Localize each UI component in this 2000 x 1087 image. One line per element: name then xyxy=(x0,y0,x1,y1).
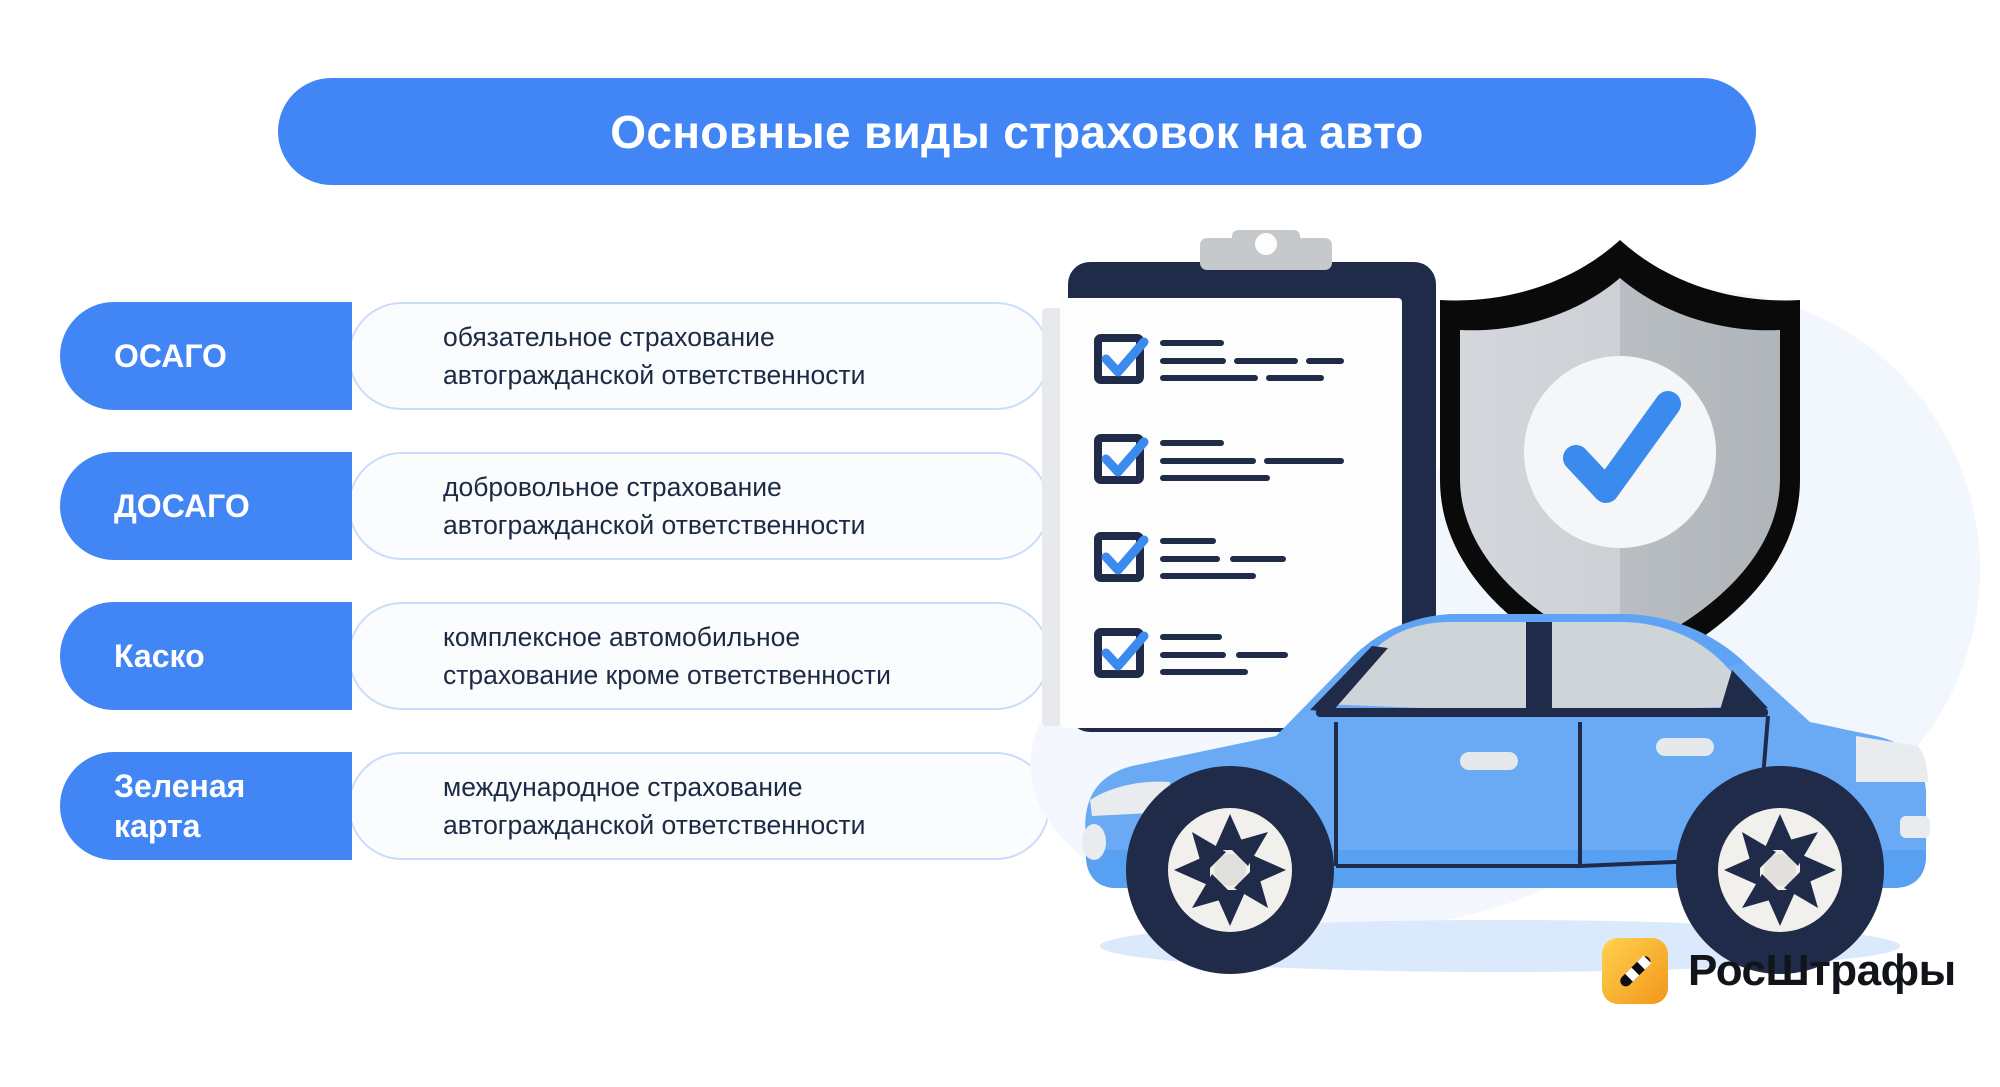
insurance-description: обязательное страхование автогражданской… xyxy=(348,302,1050,410)
insurance-description: комплексное автомобильное страхование кр… xyxy=(348,602,1050,710)
description-line: страхование кроме ответственности xyxy=(443,656,1014,694)
description-line: международное страхование xyxy=(443,768,1014,806)
insurance-label-text: ДОСАГО xyxy=(114,486,250,526)
insurance-types-list: обязательное страхование автогражданской… xyxy=(60,302,1050,902)
page-title: Основные виды страховок на авто xyxy=(610,105,1423,159)
insurance-label-green-card: Зеленая карта xyxy=(60,752,352,860)
insurance-label-text: ОСАГО xyxy=(114,336,227,376)
illustration-svg xyxy=(1020,230,2000,1010)
traffic-baton-icon xyxy=(1602,938,1668,1004)
description-line: автогражданской ответственности xyxy=(443,506,1014,544)
insurance-label-text: карта xyxy=(114,806,200,846)
insurance-description: международное страхование автогражданско… xyxy=(348,752,1050,860)
door-handle xyxy=(1656,738,1714,756)
page-title-banner: Основные виды страховок на авто xyxy=(278,78,1756,185)
list-item: комплексное автомобильное страхование кр… xyxy=(60,602,1050,710)
car-wheel xyxy=(1126,766,1334,974)
insurance-label-osago: ОСАГО xyxy=(60,302,352,410)
description-line: автогражданской ответственности xyxy=(443,356,1014,394)
list-item: добровольное страхование автогражданской… xyxy=(60,452,1050,560)
insurance-description: добровольное страхование автогражданской… xyxy=(348,452,1050,560)
brand-name: РосШтрафы xyxy=(1688,946,1956,996)
list-item: международное страхование автогражданско… xyxy=(60,752,1050,860)
insurance-label-dosago: ДОСАГО xyxy=(60,452,352,560)
insurance-label-kasko: Каско xyxy=(60,602,352,710)
list-item: обязательное страхование автогражданской… xyxy=(60,302,1050,410)
description-line: обязательное страхование xyxy=(443,318,1014,356)
brand-logo[interactable]: РосШтрафы xyxy=(1602,938,1956,1004)
insurance-label-text: Каско xyxy=(114,636,205,676)
description-line: добровольное страхование xyxy=(443,468,1014,506)
insurance-label-text: Зеленая xyxy=(114,766,245,806)
infographic-page: Основные виды страховок на авто обязател… xyxy=(0,0,2000,1087)
illustration-group xyxy=(1020,230,2000,1010)
description-line: автогражданской ответственности xyxy=(443,806,1014,844)
door-handle xyxy=(1460,752,1518,770)
description-line: комплексное автомобильное xyxy=(443,618,1014,656)
